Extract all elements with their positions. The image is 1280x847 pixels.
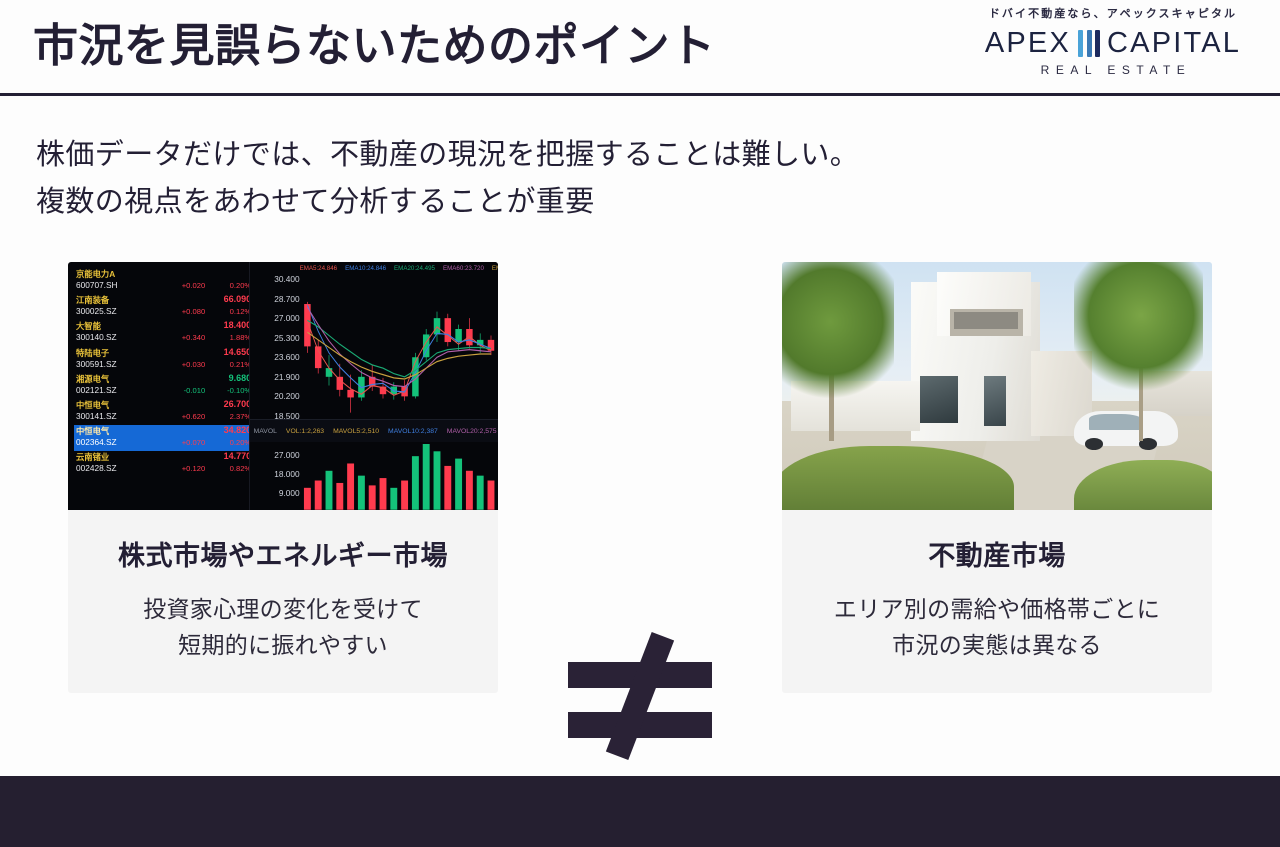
subtitle-line-1: 株価データだけでは、不動産の現況を把握することは難しい。 bbox=[36, 132, 1136, 179]
logo-tagline: ドバイ不動産なら、アペックスキャピタル bbox=[968, 6, 1258, 22]
ticker-name: 京能电力A bbox=[76, 268, 115, 280]
card-body-realestate-line-2: 市況の実態は異なる bbox=[782, 627, 1212, 663]
logo-bars-icon bbox=[1078, 30, 1100, 57]
volume-canvas bbox=[302, 444, 496, 510]
volume-legend-item: MAVOL5:2,510 bbox=[333, 428, 379, 435]
ticker-delta: +0.020 bbox=[182, 281, 205, 290]
tree-icon bbox=[782, 262, 894, 411]
ticker-code: 300025.SZ bbox=[76, 306, 117, 316]
ticker-row[interactable]: 京能电力A600707.SH+0.0200.20% bbox=[74, 268, 257, 294]
price-tick: 28.700 bbox=[254, 290, 300, 310]
ticker-name: 大智能 bbox=[76, 320, 101, 332]
villa-artwork bbox=[782, 262, 1212, 510]
volume-axis: 27.00018.0009.000 bbox=[254, 446, 300, 503]
ticker-price: 14.770 bbox=[224, 451, 252, 461]
brand-logo: ドバイ不動産なら、アペックスキャピタル APEX CAPITAL REAL ES… bbox=[968, 6, 1258, 77]
ticker-code: 002364.SZ bbox=[76, 437, 117, 447]
slide-subtitle: 株価データだけでは、不動産の現況を把握することは難しい。 複数の視点をあわせて分… bbox=[36, 132, 1136, 226]
ticker-delta: +0.030 bbox=[182, 360, 205, 369]
header-divider bbox=[0, 93, 1280, 96]
page-title: 市況を見誤らないためのポイント bbox=[33, 12, 716, 80]
ticker-row[interactable]: 特陆电子300591.SZ14.650+0.0300.21% bbox=[74, 347, 257, 373]
logo-subtitle: REAL ESTATE bbox=[968, 63, 1258, 77]
price-tick: 30.400 bbox=[254, 270, 300, 290]
ticker-name: 中恒电气 bbox=[76, 399, 109, 411]
candlestick-panel: EMA5:24.846EMA10:24.846EMA20:24.495EMA60… bbox=[249, 262, 498, 510]
subtitle-line-2: 複数の視点をあわせて分析することが重要 bbox=[36, 179, 1136, 226]
price-tick: 21.900 bbox=[254, 368, 300, 388]
candlestick-svg bbox=[302, 266, 496, 414]
card-body-stock: 投資家心理の変化を受けて 短期的に振れやすい bbox=[68, 591, 498, 663]
ticker-code: 002121.SZ bbox=[76, 385, 117, 395]
stock-chart-image: 京能电力A600707.SH+0.0200.20%江南装备300025.SZ66… bbox=[68, 262, 498, 510]
slide-root: 市況を見誤らないためのポイント ドバイ不動産なら、アペックスキャピタル APEX… bbox=[0, 0, 1280, 847]
slide-header: 市況を見誤らないためのポイント ドバイ不動産なら、アペックスキャピタル APEX… bbox=[0, 0, 1280, 95]
villa-photo bbox=[782, 262, 1212, 510]
ticker-name: 特陆电子 bbox=[76, 347, 109, 359]
ticker-name: 中恒电气 bbox=[76, 425, 109, 437]
not-equal-icon bbox=[560, 634, 720, 756]
volume-legend: MAVOLVOL:1:2,263MAVOL5:2,510MAVOL10:2,38… bbox=[250, 419, 498, 441]
ticker-row[interactable]: 大智能300140.SZ18.400+0.3401.88% bbox=[74, 320, 257, 346]
stock-terminal-artwork: 京能电力A600707.SH+0.0200.20%江南装备300025.SZ66… bbox=[68, 262, 498, 510]
volume-legend-item: MAVOL10:2,387 bbox=[388, 428, 438, 435]
volume-legend-item: MAVOL bbox=[254, 428, 277, 435]
price-tick: 20.200 bbox=[254, 387, 300, 407]
ticker-name: 湘源电气 bbox=[76, 373, 109, 385]
ticker-list: 京能电力A600707.SH+0.0200.20%江南装备300025.SZ66… bbox=[68, 262, 257, 510]
card-body-stock-line-1: 投資家心理の変化を受けて bbox=[68, 591, 498, 627]
logo-wordmark: APEX CAPITAL bbox=[968, 27, 1258, 59]
logo-word-capital: CAPITAL bbox=[1107, 27, 1241, 59]
ticker-code: 600707.SH bbox=[76, 280, 118, 290]
price-chart: 30.40028.70027.00025.30023.60021.90020.2… bbox=[250, 262, 498, 416]
ticker-price: 26.700 bbox=[224, 399, 252, 409]
ticker-pct: -0.10% bbox=[227, 386, 251, 395]
card-body-realestate: エリア別の需給や価格帯ごとに 市況の実態は異なる bbox=[782, 591, 1212, 663]
ticker-row[interactable]: 江南装备300025.SZ66.090+0.0800.12% bbox=[74, 294, 257, 320]
price-tick: 27.000 bbox=[254, 309, 300, 329]
logo-word-apex: APEX bbox=[985, 27, 1071, 59]
ticker-code: 300141.SZ bbox=[76, 411, 117, 421]
card-heading-stock: 株式市場やエネルギー市場 bbox=[68, 534, 498, 573]
ticker-row[interactable]: 中恒电气300141.SZ26.700+0.6202.37% bbox=[74, 399, 257, 425]
tree-icon bbox=[1074, 262, 1203, 396]
ticker-code: 300140.SZ bbox=[76, 332, 117, 342]
ticker-row[interactable]: 湘源电气002121.SZ9.680-0.010-0.10% bbox=[74, 373, 257, 399]
ticker-name: 江南装备 bbox=[76, 294, 109, 306]
ticker-price: 34.820 bbox=[224, 425, 252, 435]
ticker-name: 云南锗业 bbox=[76, 451, 109, 463]
price-canvas bbox=[302, 266, 496, 414]
volume-tick: 27.000 bbox=[254, 446, 300, 465]
ticker-delta: +0.620 bbox=[182, 412, 205, 421]
volume-tick: 18.000 bbox=[254, 465, 300, 484]
ticker-delta: -0.010 bbox=[184, 386, 206, 395]
ticker-price: 66.090 bbox=[224, 294, 252, 304]
ticker-row[interactable]: 中恒电气002364.SZ34.820+0.0700.20% bbox=[74, 425, 257, 451]
ticker-row[interactable]: 云南锗业002428.SZ14.770+0.1200.82% bbox=[74, 451, 257, 477]
card-real-estate: 不動産市場 エリア別の需給や価格帯ごとに 市況の実態は異なる bbox=[782, 262, 1212, 693]
card-stock-market: 京能电力A600707.SH+0.0200.20%江南装备300025.SZ66… bbox=[68, 262, 498, 693]
price-tick: 23.600 bbox=[254, 348, 300, 368]
ticker-delta: +0.120 bbox=[182, 464, 205, 473]
card-body-realestate-line-1: エリア別の需給や価格帯ごとに bbox=[782, 591, 1212, 627]
ticker-price: 14.650 bbox=[224, 347, 252, 357]
ticker-price: 18.400 bbox=[224, 320, 252, 330]
volume-svg bbox=[302, 444, 496, 510]
ticker-delta: +0.070 bbox=[182, 438, 205, 447]
card-heading-realestate: 不動産市場 bbox=[782, 534, 1212, 573]
car-icon bbox=[1074, 411, 1177, 446]
volume-tick: 9.000 bbox=[254, 484, 300, 503]
ticker-delta: +0.340 bbox=[182, 333, 205, 342]
price-tick: 25.300 bbox=[254, 329, 300, 349]
ticker-code: 300591.SZ bbox=[76, 359, 117, 369]
card-body-stock-line-2: 短期的に振れやすい bbox=[68, 627, 498, 663]
volume-legend-item: MAVOL20:2,575 bbox=[447, 428, 497, 435]
footer-bar bbox=[0, 776, 1280, 847]
ticker-code: 002428.SZ bbox=[76, 463, 117, 473]
ticker-delta: +0.080 bbox=[182, 307, 205, 316]
volume-legend-item: VOL:1:2,263 bbox=[286, 428, 324, 435]
comparison-section: 京能电力A600707.SH+0.0200.20%江南装备300025.SZ66… bbox=[0, 262, 1280, 697]
